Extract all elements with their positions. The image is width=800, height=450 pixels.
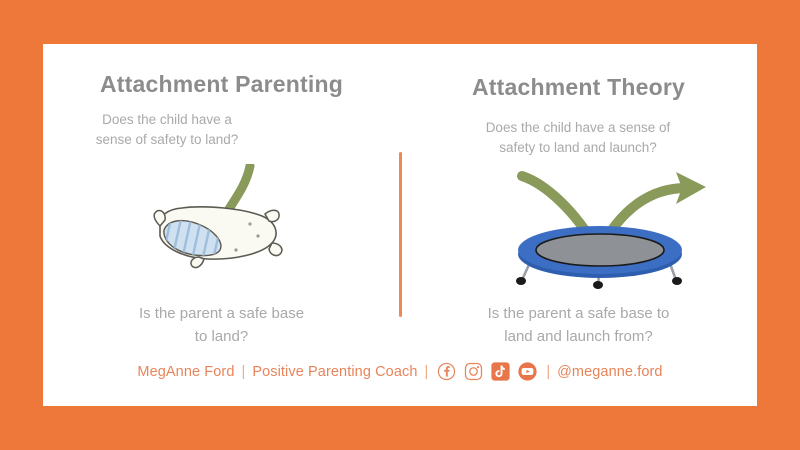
trampoline-mat bbox=[536, 234, 664, 266]
right-question-line-1: Does the child have a sense of bbox=[432, 118, 724, 138]
footer-separator-2: | bbox=[425, 364, 429, 380]
tiktok-icon[interactable] bbox=[491, 362, 510, 381]
vertical-divider bbox=[399, 152, 402, 317]
pillow-tuft-2 bbox=[256, 234, 259, 237]
footer-role: Positive Parenting Coach bbox=[252, 364, 417, 380]
left-panel: Attachment Parenting Does the child have… bbox=[43, 44, 400, 406]
youtube-icon[interactable] bbox=[518, 362, 537, 381]
pillow-corner-right bbox=[269, 243, 282, 256]
left-question-line-2: sense of safety to land? bbox=[57, 130, 277, 150]
right-panel: Attachment Theory Does the child have a … bbox=[400, 44, 757, 406]
trampoline-illustration bbox=[500, 154, 730, 289]
footer-author: MegAnne Ford bbox=[137, 364, 234, 380]
social-links bbox=[437, 362, 537, 381]
pillow-corner-bottom bbox=[191, 257, 204, 268]
right-panel-title: Attachment Theory bbox=[400, 74, 757, 101]
arrow-shaft bbox=[226, 166, 250, 214]
left-panel-title: Attachment Parenting bbox=[43, 71, 400, 98]
footer-bar: MegAnne Ford | Positive Parenting Coach … bbox=[43, 362, 757, 381]
footer-separator-3: | bbox=[546, 364, 550, 380]
instagram-icon[interactable] bbox=[464, 362, 483, 381]
left-panel-footer: Is the parent a safe base to land? bbox=[43, 302, 400, 349]
pillow-tuft-1 bbox=[248, 222, 251, 225]
footer-handle: @meganne.ford bbox=[557, 364, 663, 380]
right-footer-line-2: land and launch from? bbox=[400, 325, 757, 348]
pillow-tuft-3 bbox=[234, 248, 237, 251]
right-footer-line-1: Is the parent a safe base to bbox=[400, 302, 757, 325]
slide-canvas: Attachment Parenting Does the child have… bbox=[0, 0, 800, 450]
left-footer-line-1: Is the parent a safe base bbox=[43, 302, 400, 325]
right-panel-question: Does the child have a sense of safety to… bbox=[432, 118, 724, 157]
left-panel-question: Does the child have a sense of safety to… bbox=[57, 110, 277, 149]
left-footer-line-2: to land? bbox=[43, 325, 400, 348]
content-card: Attachment Parenting Does the child have… bbox=[43, 44, 757, 406]
footer-separator-1: | bbox=[242, 364, 246, 380]
right-panel-footer: Is the parent a safe base to land and la… bbox=[400, 302, 757, 349]
pillow-illustration bbox=[138, 164, 328, 279]
left-question-line-1: Does the child have a bbox=[57, 110, 277, 130]
facebook-icon[interactable] bbox=[437, 362, 456, 381]
